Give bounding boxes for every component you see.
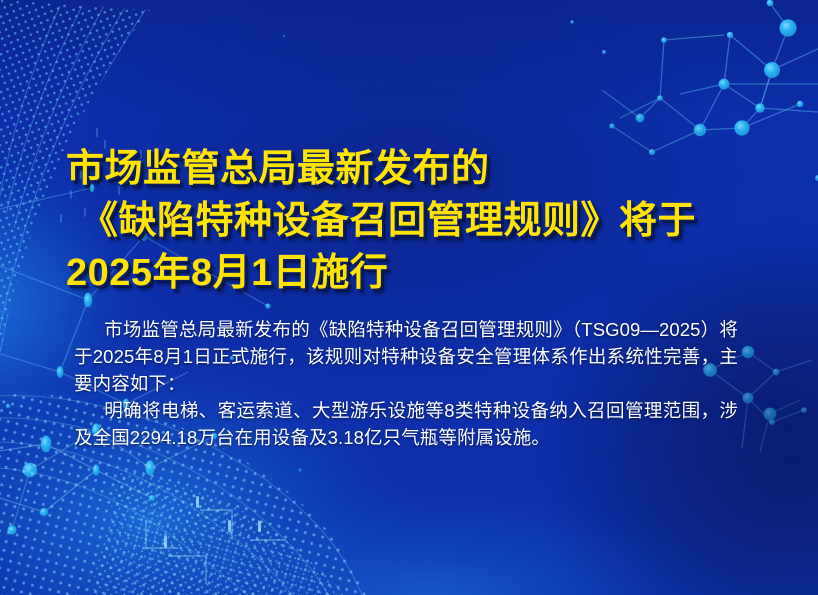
poster-canvas: 市场监管总局最新发布的 《缺陷特种设备召回管理规则》将于 2025年8月1日施行…	[0, 0, 818, 595]
headline-line-1: 市场监管总局最新发布的	[66, 143, 766, 195]
page-title: 市场监管总局最新发布的 《缺陷特种设备召回管理规则》将于 2025年8月1日施行	[66, 143, 766, 299]
headline-line-3: 2025年8月1日施行	[66, 247, 766, 299]
body-text: 市场监管总局最新发布的《缺陷特种设备召回管理规则》（TSG09—2025）将于2…	[74, 316, 738, 451]
body-paragraph-1: 市场监管总局最新发布的《缺陷特种设备召回管理规则》（TSG09—2025）将于2…	[74, 316, 738, 397]
headline-line-2: 《缺陷特种设备召回管理规则》将于	[66, 195, 766, 247]
body-paragraph-2-text: 明确将电梯、客运索道、大型游乐设施等8类特种设备纳入召回管理范围，涉及全国229…	[74, 400, 738, 448]
body-paragraph-2: 明确将电梯、客运索道、大型游乐设施等8类特种设备纳入召回管理范围，涉及全国229…	[74, 397, 738, 451]
body-paragraph-1-text: 市场监管总局最新发布的《缺陷特种设备召回管理规则》（TSG09—2025）将于2…	[74, 319, 738, 394]
